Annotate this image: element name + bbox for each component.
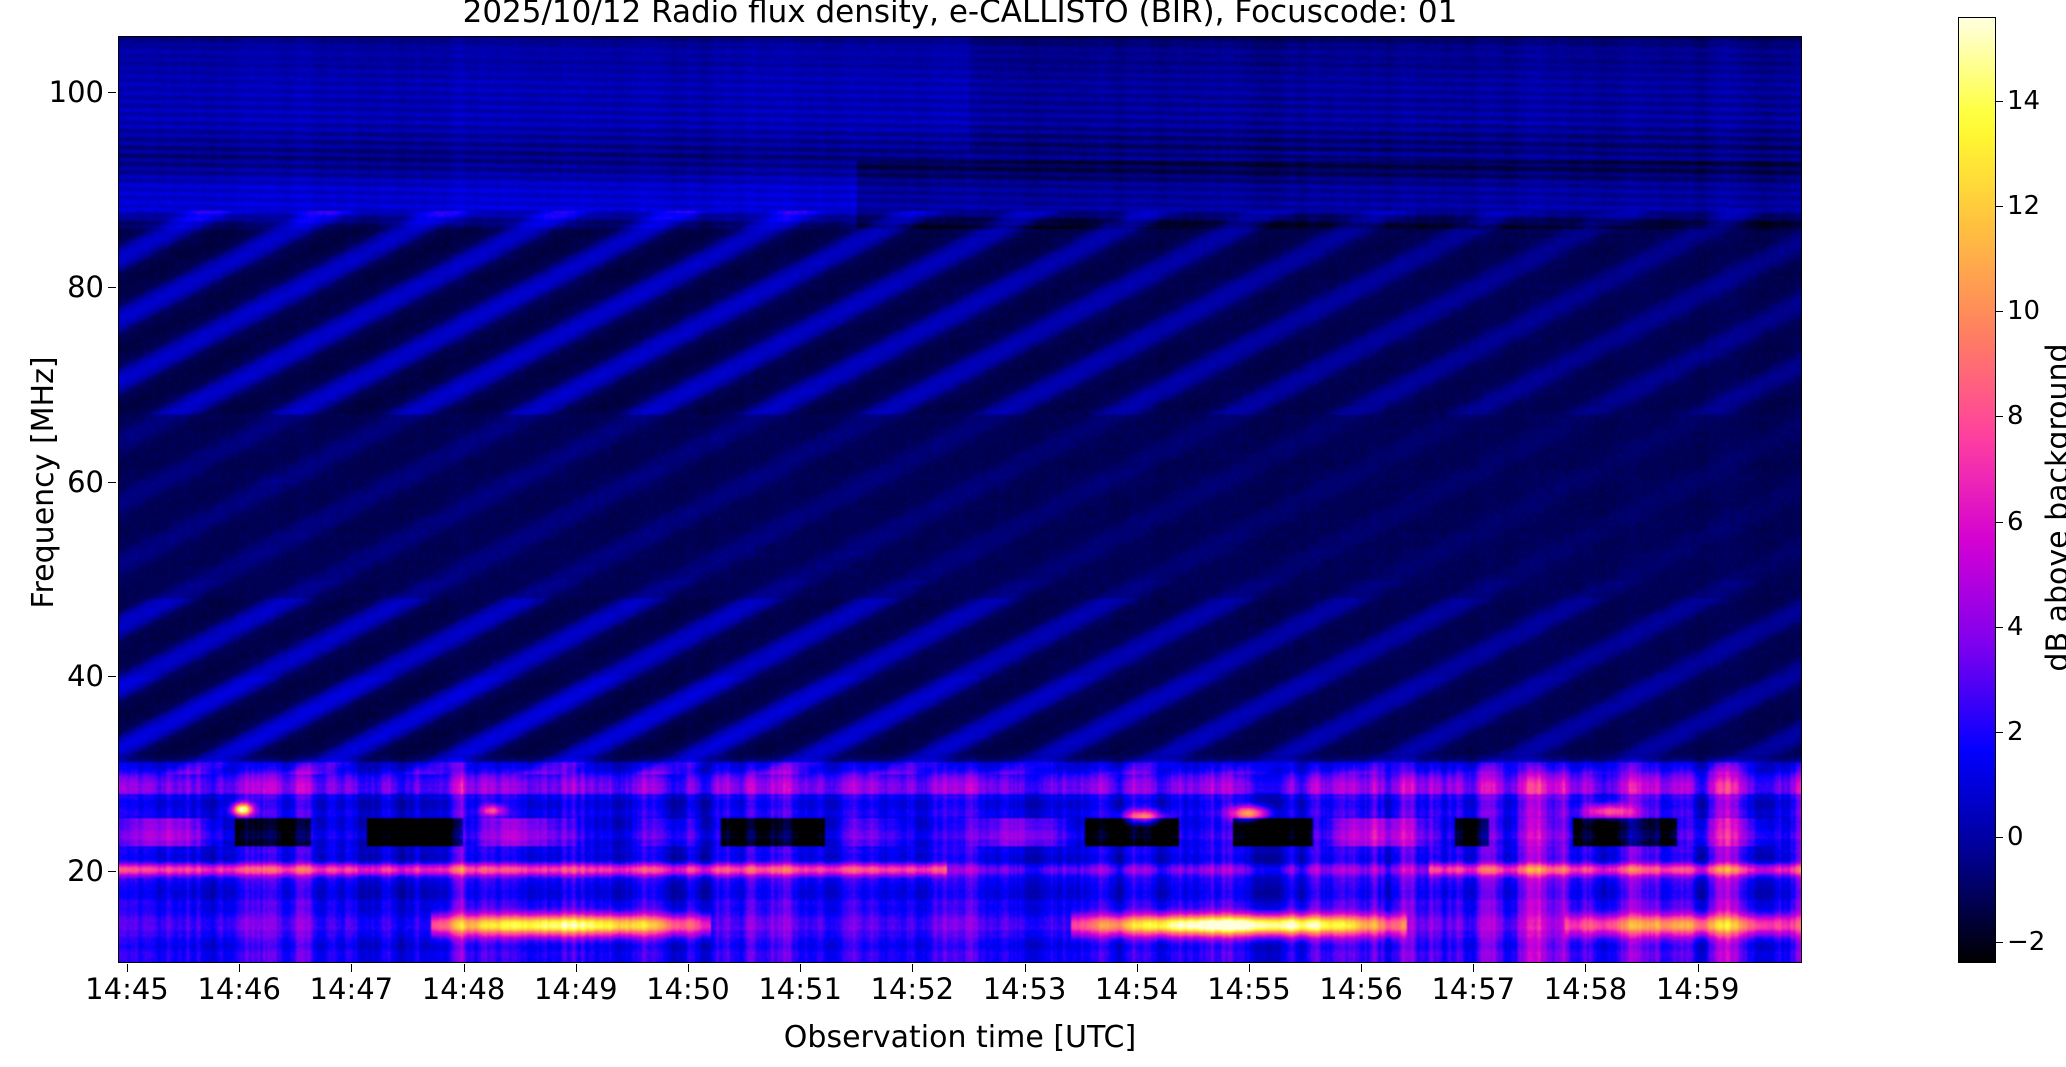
x-axis-tick-label: 14:51	[758, 972, 842, 1006]
colorbar-tick-label: −2	[2007, 927, 2045, 957]
x-axis-tick-mark	[1361, 964, 1362, 972]
y-axis-tick-label: 40	[67, 659, 104, 693]
x-axis-label: Observation time [UTC]	[118, 1020, 1802, 1055]
y-axis-tick-mark	[108, 482, 116, 483]
colorbar-tick-mark	[1996, 732, 2003, 733]
x-axis-tick-mark	[576, 964, 577, 972]
colorbar-tick-label: 4	[2007, 612, 2024, 642]
x-axis-tick-mark	[800, 964, 801, 972]
x-axis-tick-mark	[1249, 964, 1250, 972]
page-title: 2025/10/12 Radio flux density, e-CALLIST…	[118, 0, 1802, 30]
colorbar-tick-label: 0	[2007, 822, 2024, 852]
x-axis-tick-mark	[1137, 964, 1138, 972]
colorbar-tick-mark	[1996, 837, 2003, 838]
colorbar-tick-mark	[1996, 942, 2003, 943]
spectrogram-plot-area	[118, 36, 1802, 963]
x-axis-tick-mark	[464, 964, 465, 972]
colorbar-tick-mark	[1996, 101, 2003, 102]
x-axis-tick-label: 14:49	[534, 972, 618, 1006]
x-axis-tick-label: 14:57	[1431, 972, 1515, 1006]
colorbar-tick-mark	[1996, 416, 2003, 417]
colorbar-tick-mark	[1996, 522, 2003, 523]
x-axis-tick-label: 14:56	[1319, 972, 1403, 1006]
x-axis-tick-label: 14:47	[310, 972, 394, 1006]
colorbar-tick-mark	[1996, 311, 2003, 312]
x-axis-tick-label: 14:59	[1656, 972, 1740, 1006]
x-axis-tick-mark	[688, 964, 689, 972]
x-axis-tick-mark	[351, 964, 352, 972]
y-axis-tick-mark	[108, 871, 116, 872]
colorbar-tick-mark	[1996, 627, 2003, 628]
y-axis-tick-label: 80	[67, 270, 104, 304]
figure-canvas: 2025/10/12 Radio flux density, e-CALLIST…	[0, 0, 2066, 1067]
colorbar-tick-label: 14	[2007, 86, 2040, 116]
colorbar-tick-label: 2	[2007, 717, 2024, 747]
x-axis-tick-mark	[1698, 964, 1699, 972]
x-axis-tick-mark	[1025, 964, 1026, 972]
x-axis-tick-mark	[1585, 964, 1586, 972]
x-axis-tick-label: 14:48	[422, 972, 506, 1006]
x-axis-tick-label: 14:58	[1544, 972, 1628, 1006]
colorbar-tick-label: 6	[2007, 507, 2024, 537]
y-axis-tick-mark	[108, 287, 116, 288]
x-axis-tick-label: 14:54	[1095, 972, 1179, 1006]
y-axis-label: Frequency [MHz]	[26, 19, 61, 946]
x-axis-tick-mark	[1473, 964, 1474, 972]
x-axis-tick-label: 14:52	[871, 972, 955, 1006]
colorbar-tick-label: 8	[2007, 401, 2024, 431]
x-axis-tick-mark	[239, 964, 240, 972]
x-axis-tick-label: 14:45	[85, 972, 169, 1006]
colorbar	[1958, 17, 1996, 963]
spectrogram-image	[119, 37, 1802, 963]
colorbar-tick-label: 10	[2007, 296, 2040, 326]
x-axis-tick-mark	[912, 964, 913, 972]
y-axis-tick-label: 20	[67, 854, 104, 888]
y-axis-tick-mark	[108, 676, 116, 677]
x-axis-tick-label: 14:53	[983, 972, 1067, 1006]
x-axis-tick-labels: 14:4514:4614:4714:4814:4914:5014:5114:52…	[0, 972, 2066, 1016]
x-axis-tick-label: 14:46	[197, 972, 281, 1006]
x-axis-tick-mark	[127, 964, 128, 972]
colorbar-label: dB above background	[2041, 35, 2066, 981]
colorbar-gradient	[1959, 18, 1995, 962]
colorbar-tick-label: 12	[2007, 191, 2040, 221]
x-axis-tick-label: 14:50	[646, 972, 730, 1006]
y-axis-tick-label: 60	[67, 465, 104, 499]
colorbar-tick-mark	[1996, 206, 2003, 207]
x-axis-tick-label: 14:55	[1207, 972, 1291, 1006]
y-axis-tick-mark	[108, 92, 116, 93]
